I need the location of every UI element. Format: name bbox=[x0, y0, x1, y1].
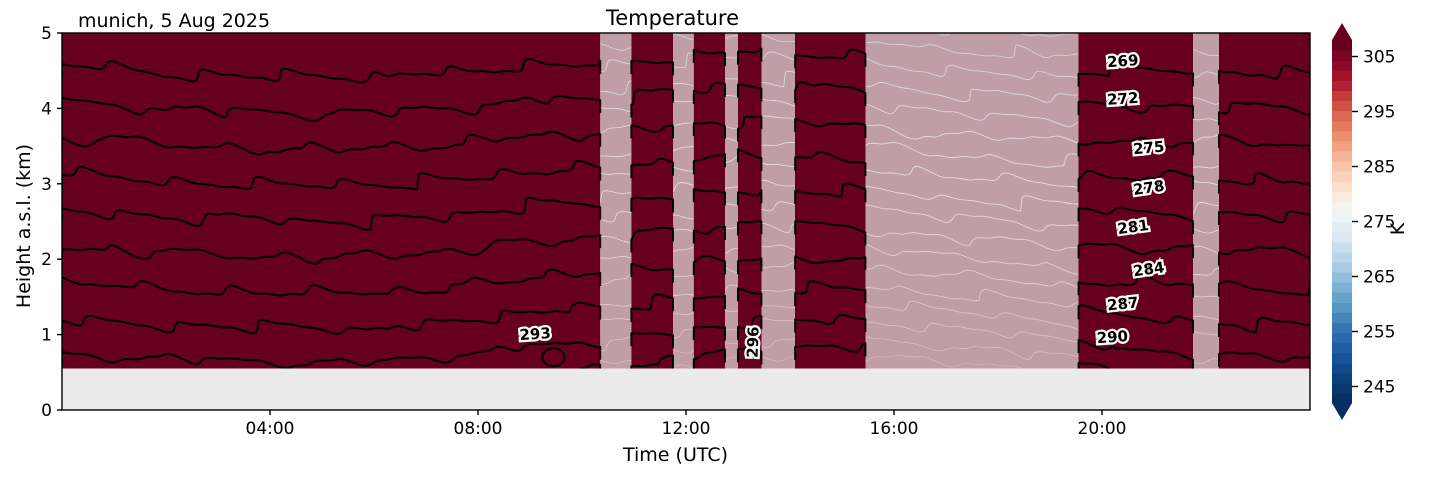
y-tick-label: 5 bbox=[41, 24, 52, 44]
contour-label: 290 bbox=[1096, 327, 1128, 347]
y-tick-label: 3 bbox=[41, 175, 52, 195]
colorbar-tick-label: 255 bbox=[1363, 323, 1395, 343]
colorbar-tick-label: 265 bbox=[1363, 268, 1395, 288]
plot-title: Temperature bbox=[606, 6, 739, 30]
y-tick-label: 0 bbox=[41, 401, 52, 421]
colorbar-label: K bbox=[1387, 199, 1409, 259]
x-axis-label: Time (UTC) bbox=[623, 444, 728, 466]
x-tick-label: 08:00 bbox=[454, 419, 503, 439]
x-tick-label: 12:00 bbox=[662, 419, 711, 439]
colorbar-tick-label: 285 bbox=[1363, 158, 1395, 178]
colorbar-tick-label: 305 bbox=[1363, 48, 1395, 68]
colorbar-tick-label: 295 bbox=[1363, 103, 1395, 123]
contour-label: 296 bbox=[744, 326, 763, 358]
colorbar-tick-label: 245 bbox=[1363, 378, 1395, 398]
x-tick-label: 04:00 bbox=[246, 419, 295, 439]
x-tick-label: 20:00 bbox=[1078, 419, 1127, 439]
contour-label: 275 bbox=[1132, 138, 1165, 159]
x-tick-label: 16:00 bbox=[870, 419, 919, 439]
chart-svg: 26927227527828128428729029329604:0008:00… bbox=[0, 0, 1429, 478]
colorbar: 245255265275285295305 bbox=[1332, 23, 1395, 420]
contour-label: 269 bbox=[1107, 51, 1139, 71]
y-axis-label: Height a.s.l. (km) bbox=[13, 136, 35, 316]
plot-annotation: munich, 5 Aug 2025 bbox=[78, 10, 270, 32]
figure-canvas: 26927227527828128428729029329604:0008:00… bbox=[0, 0, 1429, 478]
y-tick-label: 2 bbox=[41, 250, 52, 270]
y-tick-label: 4 bbox=[41, 99, 52, 119]
y-tick-label: 1 bbox=[41, 326, 52, 346]
contour-label: 293 bbox=[519, 324, 551, 344]
contour-label: 287 bbox=[1106, 293, 1139, 314]
contour-label: 272 bbox=[1107, 89, 1139, 109]
